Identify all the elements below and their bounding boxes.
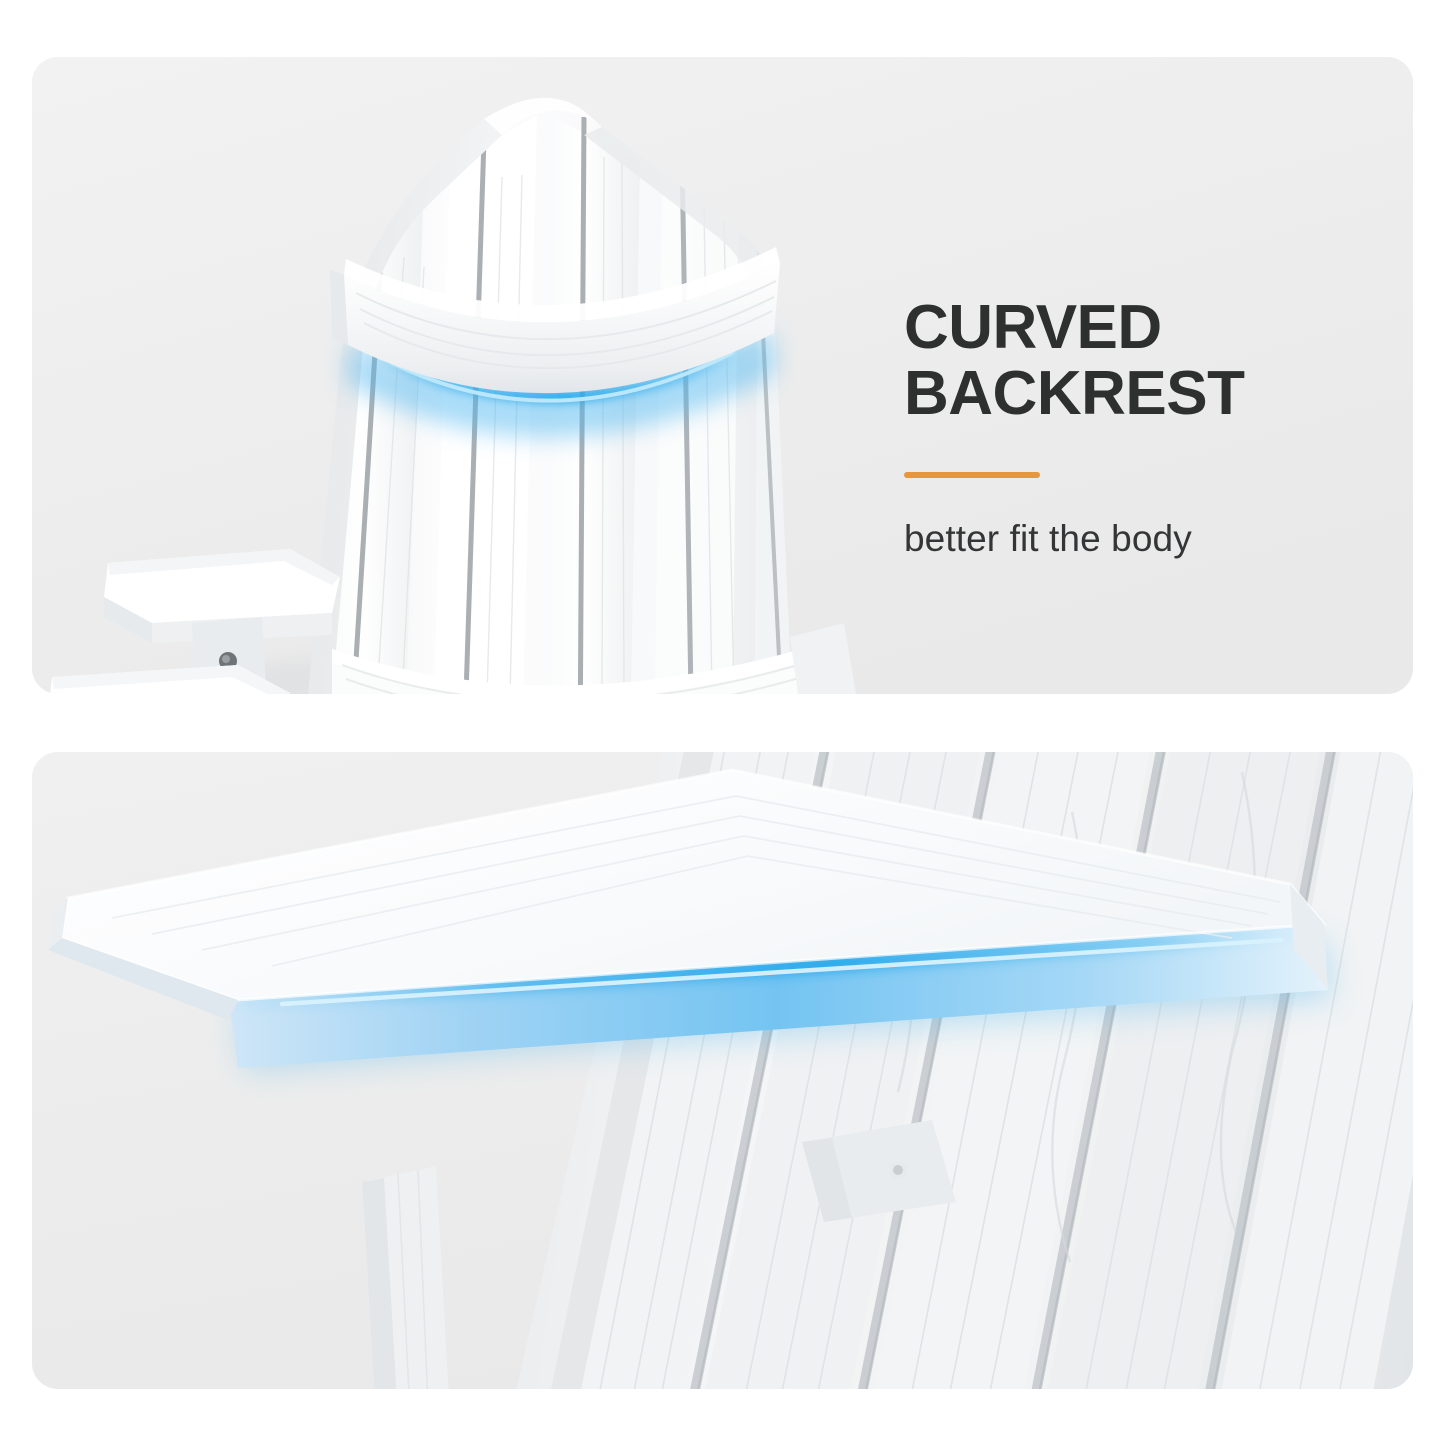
backrest-copy-block: CURVED BACKREST better fit the body (904, 295, 1374, 560)
wide-armrests-panel: WIDE ARMRESTS for better arm relaxation (32, 752, 1413, 1389)
wide-armrests-photo (32, 752, 1413, 1389)
backrest-headline: CURVED BACKREST (904, 295, 1374, 426)
backrest-subline: better fit the body (904, 518, 1374, 560)
curved-backrest-panel: CURVED BACKREST better fit the body (32, 57, 1413, 694)
feature-collage: CURVED BACKREST better fit the body (0, 0, 1445, 1445)
backrest-divider (904, 472, 1040, 478)
